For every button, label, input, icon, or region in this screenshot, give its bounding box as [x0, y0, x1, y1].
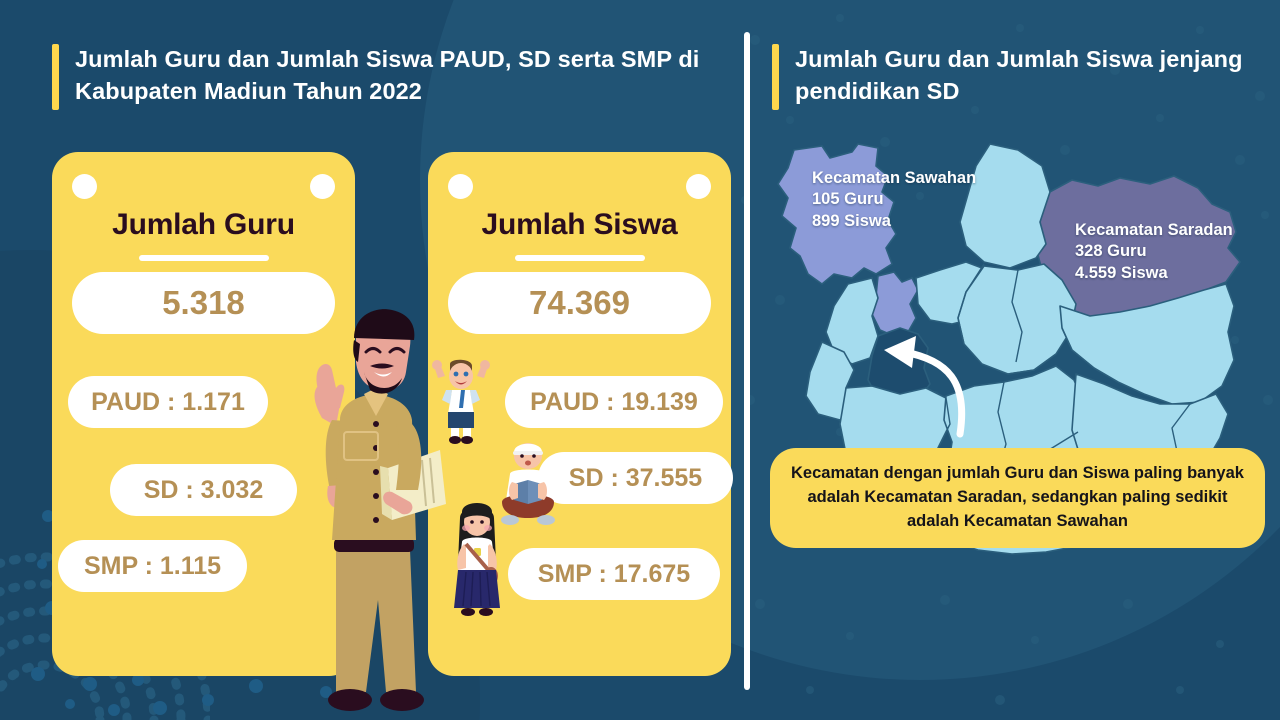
summary-note-box: Kecamatan dengan jumlah Guru dan Siswa p…: [770, 448, 1265, 548]
right-title-accent-bar: [772, 44, 779, 110]
stat-level-guru-smp: SMP : 1.115: [58, 540, 247, 592]
left-title-accent-bar: [52, 44, 59, 110]
stat-level-guru-paud: PAUD : 1.171: [68, 376, 268, 428]
map-label-saradan-guru: 328 Guru: [1075, 241, 1233, 262]
student-cheering-boy-illustration: [428, 356, 494, 446]
card-hole-left-icon: [448, 174, 473, 199]
panel-divider: [744, 32, 750, 690]
right-title: Jumlah Guru dan Jumlah Siswa jenjang pen…: [795, 44, 1272, 108]
card-hole-right-icon: [310, 174, 335, 199]
stat-total-siswa: 74.369: [448, 272, 711, 334]
stat-level-siswa-paud: PAUD : 19.139: [505, 376, 723, 428]
map-label-saradan: Kecamatan Saradan 328 Guru 4.559 Siswa: [1075, 220, 1233, 284]
stat-level-guru-sd: SD : 3.032: [110, 464, 297, 516]
right-title-block: Jumlah Guru dan Jumlah Siswa jenjang pen…: [772, 44, 1272, 110]
card-hole-left-icon: [72, 174, 97, 199]
map-label-sawahan-guru: 105 Guru: [812, 189, 976, 210]
left-panel: Jumlah Guru dan Jumlah Siswa PAUD, SD se…: [0, 0, 745, 720]
card-hole-right-icon: [686, 174, 711, 199]
card-title-siswa: Jumlah Siswa: [428, 208, 731, 242]
map-label-sawahan-siswa: 899 Siswa: [812, 211, 976, 232]
card-title-guru: Jumlah Guru: [52, 208, 355, 242]
map-label-saradan-name: Kecamatan Saradan: [1075, 220, 1233, 241]
left-title: Jumlah Guru dan Jumlah Siswa PAUD, SD se…: [75, 44, 712, 108]
pointer-arrow-icon: [820, 274, 1040, 454]
card-title-underline: [139, 255, 269, 261]
map-label-sawahan-name: Kecamatan Sawahan: [812, 168, 976, 189]
map-label-sawahan: Kecamatan Sawahan 105 Guru 899 Siswa: [812, 168, 976, 232]
right-panel: Jumlah Guru dan Jumlah Siswa jenjang pen…: [760, 0, 1280, 720]
stat-level-siswa-smp: SMP : 17.675: [508, 548, 720, 600]
card-title-underline: [515, 255, 645, 261]
stat-level-siswa-sd: SD : 37.555: [538, 452, 733, 504]
map-label-saradan-siswa: 4.559 Siswa: [1075, 263, 1233, 284]
left-title-block: Jumlah Guru dan Jumlah Siswa PAUD, SD se…: [52, 44, 712, 110]
stat-total-guru: 5.318: [72, 272, 335, 334]
student-girl-illustration: [446, 500, 508, 620]
